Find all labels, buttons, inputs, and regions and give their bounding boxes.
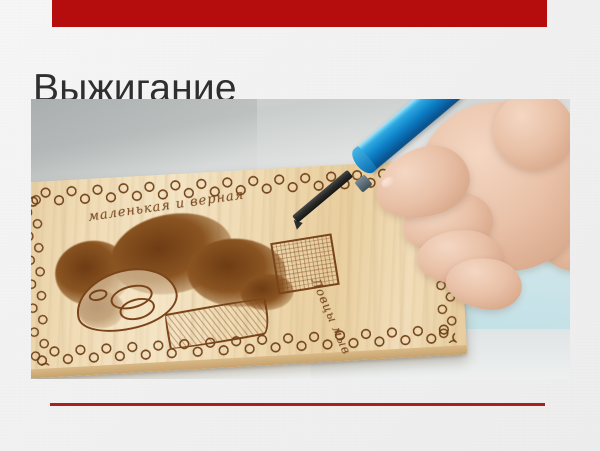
egg-dot: [87, 288, 108, 303]
top-accent-banner: [52, 0, 547, 27]
thumb-nail: [379, 173, 396, 188]
presentation-slide: Выжигание: [0, 0, 600, 451]
photo-woodburning: маленькая и верная Ловцы мыв: [31, 99, 570, 379]
hand: [365, 99, 570, 317]
photo-content: маленькая и верная Ловцы мыв: [31, 99, 570, 379]
bottom-accent-rule: [50, 403, 545, 406]
burned-basket-motif: [270, 233, 340, 294]
